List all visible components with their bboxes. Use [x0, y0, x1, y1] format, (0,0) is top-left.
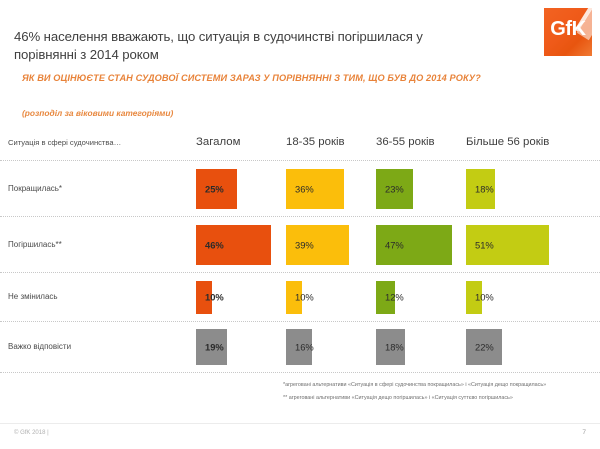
bar-3-4: 10% [466, 281, 482, 314]
bar-value-label: 19% [205, 342, 224, 353]
bar-value-label: 10% [475, 292, 494, 303]
bar-2-1: 46% [196, 225, 271, 265]
column-header-1: Загалом [196, 134, 240, 150]
bar-value-label: 10% [205, 292, 224, 303]
bar-value-label: 16% [295, 342, 314, 353]
bar-value-label: 18% [475, 183, 494, 194]
bar-value-label: 18% [385, 342, 404, 353]
survey-question: ЯК ВИ ОЦІНЮЄТЕ СТАН СУДОВОЇ СИСТЕМИ ЗАРА… [22, 72, 512, 85]
footnote-2: ** агреговані альтернативи «Ситуація дещ… [283, 395, 593, 403]
column-header-4: Більше 56 років [466, 134, 549, 150]
column-header-3: 36-55 років [376, 134, 435, 150]
table-row: Важко відповісти19%16%18%22% [0, 321, 600, 373]
bar-2-4: 51% [466, 225, 549, 265]
footer-divider [0, 423, 600, 424]
bar-value-label: 46% [205, 239, 224, 250]
bar-1-2: 36% [286, 169, 344, 209]
copyright-text: © GfK 2018 | [14, 430, 49, 436]
table-row: Погіршилась**46%39%47%51% [0, 216, 600, 272]
bar-4-3: 18% [376, 329, 405, 365]
gfk-logo-icon: GfK [544, 8, 592, 56]
column-header-2: 18-35 років [286, 134, 345, 150]
bar-value-label: 12% [385, 292, 404, 303]
bar-value-label: 25% [205, 183, 224, 194]
bar-2-2: 39% [286, 225, 349, 265]
bar-value-label: 39% [295, 239, 314, 250]
bar-3-2: 10% [286, 281, 302, 314]
bar-3-3: 12% [376, 281, 395, 314]
bar-2-3: 47% [376, 225, 452, 265]
bar-1-1: 25% [196, 169, 237, 209]
table-row: Не змінилась10%10%12%10% [0, 272, 600, 321]
page-number: 7 [582, 429, 586, 436]
results-chart: Ситуація в сфері судочинства…Загалом18-3… [0, 134, 600, 373]
bar-1-3: 23% [376, 169, 413, 209]
footnotes: *агреговані альтернативи «Ситуація в сфе… [283, 382, 593, 407]
row-label: Не змінилась [8, 291, 178, 302]
logo-wordmark: GfK [544, 18, 592, 41]
bar-value-label: 10% [295, 292, 314, 303]
bar-value-label: 51% [475, 239, 494, 250]
bar-value-label: 36% [295, 183, 314, 194]
breakdown-note: (розподіл за віковими категоріями) [22, 108, 442, 119]
table-row: Покращилась*25%36%23%18% [0, 160, 600, 216]
bar-value-label: 47% [385, 239, 404, 250]
row-label: Погіршилась** [8, 239, 178, 250]
bar-1-4: 18% [466, 169, 495, 209]
row-header-label: Ситуація в сфері судочинства… [8, 138, 178, 148]
row-label: Важко відповісти [8, 341, 178, 352]
bar-3-1: 10% [196, 281, 212, 314]
bar-4-2: 16% [286, 329, 312, 365]
bar-value-label: 22% [475, 342, 494, 353]
row-label: Покращилась* [8, 183, 178, 194]
column-header-row: Ситуація в сфері судочинства…Загалом18-3… [0, 134, 600, 160]
bar-4-1: 19% [196, 329, 227, 365]
page-title: 46% населення вважають, що ситуація в су… [14, 28, 484, 64]
footnote-1: *агреговані альтернативи «Ситуація в сфе… [283, 382, 593, 390]
bar-value-label: 23% [385, 183, 404, 194]
bar-4-4: 22% [466, 329, 502, 365]
